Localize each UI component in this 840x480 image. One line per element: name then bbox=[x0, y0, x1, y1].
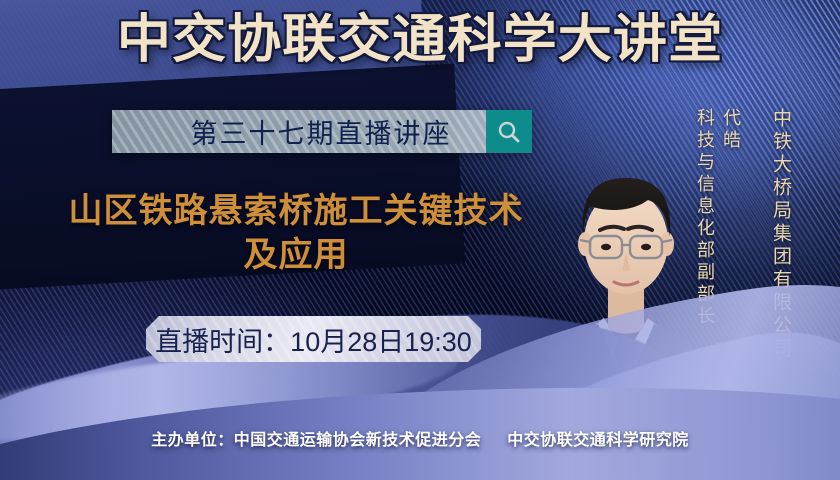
session-banner: 第三十七期直播讲座 bbox=[112, 110, 532, 153]
topic-title-line-1: 山区铁路悬索桥施工关键技术 bbox=[36, 190, 556, 234]
speaker-name: 代皓 bbox=[721, 108, 741, 152]
footer-organizers: 主办单位：中国交通运输协会新技术促进分会中交协联交通科学研究院 bbox=[0, 426, 840, 450]
topic-title-line-2: 及应用 bbox=[36, 234, 556, 278]
schedule-text: 直播时间：10月28日19:30 bbox=[155, 320, 472, 359]
speaker-title: 科技与信息化部副部长 bbox=[695, 108, 715, 328]
session-label: 第三十七期直播讲座 bbox=[112, 110, 486, 153]
schedule-badge: 直播时间：10月28日19:30 bbox=[146, 316, 481, 362]
speaker-identity: 代皓 科技与信息化部副部长 bbox=[692, 108, 744, 328]
speaker-organization: 中铁大桥局集团有限公司 bbox=[767, 108, 794, 361]
search-icon bbox=[496, 119, 522, 145]
topic-title: 山区铁路悬索桥施工关键技术 及应用 bbox=[36, 190, 556, 277]
search-button[interactable] bbox=[486, 110, 532, 153]
footer-prefix: 主办单位： bbox=[151, 432, 234, 449]
webinar-poster: 中交协联交通科学大讲堂 第三十七期直播讲座 山区铁路悬索桥施工关键技术 及应用 bbox=[0, 0, 840, 480]
page-title: 中交协联交通科学大讲堂 bbox=[0, 14, 840, 66]
footer-organizer-2: 中交协联交通科学研究院 bbox=[507, 432, 689, 449]
footer-organizer-1: 中国交通运输协会新技术促进分会 bbox=[234, 432, 482, 449]
